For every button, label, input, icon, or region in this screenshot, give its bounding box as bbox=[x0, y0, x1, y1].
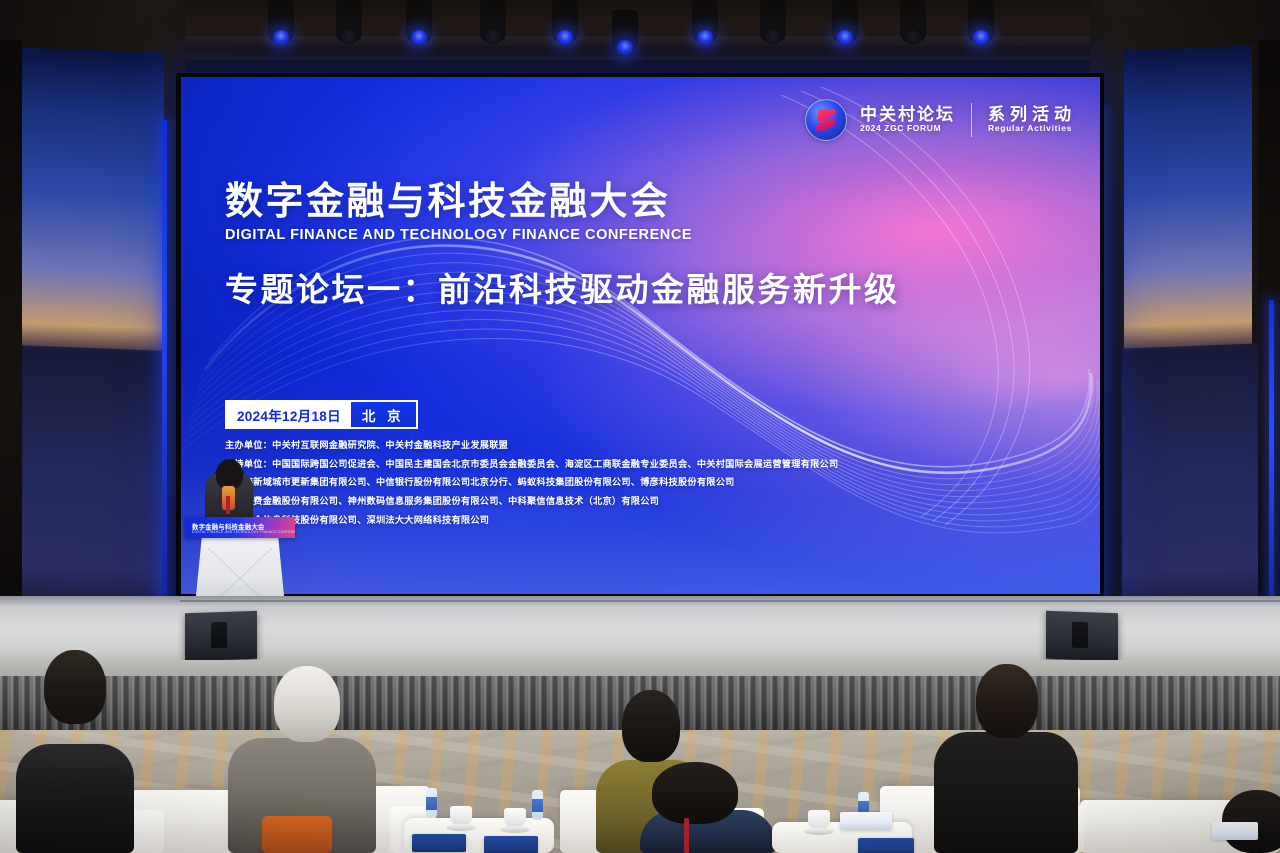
cup-saucer bbox=[804, 828, 834, 835]
brand-series-cn: 系列活动 bbox=[988, 106, 1076, 124]
place-name-card bbox=[412, 834, 466, 852]
stage-light-icon bbox=[336, 0, 362, 42]
place-name-card bbox=[858, 838, 914, 853]
wall-panel-dim bbox=[18, 345, 166, 626]
stage-light-icon bbox=[900, 0, 926, 42]
stage-light-icon bbox=[268, 0, 294, 42]
stage-light-icon bbox=[760, 0, 786, 42]
water-bottle bbox=[532, 790, 543, 820]
organizer-line: 上海合合信息科技股份有限公司、深圳法大大网络科技有限公司 bbox=[225, 516, 838, 525]
place-name-card bbox=[840, 812, 892, 830]
slide-headline-block: 数字金融与科技金融大会 DIGITAL FINANCE AND TECHNOLO… bbox=[225, 181, 900, 311]
stage-light-icon bbox=[968, 0, 994, 42]
brand-zgc-text: 中关村论坛 2024 ZGC FORUM bbox=[860, 106, 955, 135]
speaker-lanyard bbox=[226, 496, 230, 514]
stage-light-icon bbox=[406, 0, 432, 42]
podium-banner: 数字金融与科技金融大会 DIGITAL FINANCE AND TECHNOLO… bbox=[185, 517, 295, 538]
stage-light-icon bbox=[832, 0, 858, 42]
stage-light-icon bbox=[552, 0, 578, 42]
conference-title-cn: 数字金融与科技金融大会 bbox=[225, 181, 900, 224]
zgc-forum-logo: 中关村论坛 2024 ZGC FORUM 系列活动 Regular Activi… bbox=[805, 99, 1076, 141]
place-name-card bbox=[1212, 822, 1258, 840]
stage-monitor-speaker bbox=[1046, 611, 1118, 662]
organizer-line: 北京海新域城市更新集团有限公司、中信银行股份有限公司北京分行、蚂蚁科技集团股份有… bbox=[225, 478, 838, 487]
tea-cup bbox=[504, 808, 526, 828]
zgc-z-mark-icon bbox=[817, 109, 836, 131]
stage-light-icon bbox=[480, 0, 506, 42]
organizer-line: 支持单位：中国国际跨国公司促进会、中国民主建国会北京市委员会金融委员会、海淀区工… bbox=[225, 460, 838, 469]
stage-light-icon bbox=[692, 0, 718, 42]
organizer-line: 主办单位：中关村互联网金融研究院、中关村金融科技产业发展联盟 bbox=[225, 441, 838, 450]
brand-en-name: 2024 ZGC FORUM bbox=[860, 123, 955, 134]
podium-banner-en: DIGITAL FINANCE AND TECHNOLOGY FINANCE C… bbox=[192, 530, 295, 534]
date-location-badge: 2024年12月18日 北 京 bbox=[225, 400, 418, 429]
cup-saucer bbox=[446, 824, 476, 831]
brand-cn-name: 中关村论坛 bbox=[860, 106, 955, 124]
brand-divider bbox=[971, 103, 972, 137]
organizer-line: 马上消费金融股份有限公司、神州数码信息服务集团股份有限公司、中科聚信信息技术（北… bbox=[225, 497, 838, 506]
water-bottle bbox=[426, 788, 437, 818]
stage-monitor-speaker bbox=[185, 611, 257, 662]
conference-hall-photo: 中关村论坛 2024 ZGC FORUM 系列活动 Regular Activi… bbox=[0, 0, 1280, 853]
cup-saucer bbox=[500, 826, 530, 833]
brand-series-text: 系列活动 Regular Activities bbox=[988, 106, 1076, 135]
stage-light-icon bbox=[612, 10, 638, 52]
place-name-card bbox=[484, 836, 538, 853]
conference-title-en: DIGITAL FINANCE AND TECHNOLOGY FINANCE C… bbox=[225, 227, 900, 243]
wall-panel-lit bbox=[1124, 46, 1252, 351]
wall-panel-dim bbox=[1122, 343, 1258, 628]
organizer-fineprint: 主办单位：中关村互联网金融研究院、中关村金融科技产业发展联盟 支持单位：中国国际… bbox=[225, 441, 838, 535]
stage-back-seam bbox=[180, 600, 1280, 602]
wall-pillar bbox=[0, 40, 22, 640]
brand-series-en: Regular Activities bbox=[988, 123, 1076, 134]
zgc-emblem-icon bbox=[805, 99, 847, 141]
led-screen: 中关村论坛 2024 ZGC FORUM 系列活动 Regular Activi… bbox=[181, 77, 1100, 594]
event-city: 北 京 bbox=[351, 402, 416, 427]
wall-panel-lit bbox=[22, 47, 164, 352]
tea-cup bbox=[808, 810, 830, 830]
tea-cup bbox=[450, 806, 472, 826]
wall-glow-strip bbox=[1269, 300, 1274, 630]
wall-glow-strip bbox=[162, 120, 167, 620]
forum-subtitle-cn: 专题论坛一：前沿科技驱动金融服务新升级 bbox=[225, 263, 900, 311]
event-date: 2024年12月18日 bbox=[227, 402, 351, 427]
speaker-hair bbox=[216, 459, 243, 489]
lighting-truss-secondary bbox=[230, 46, 1090, 56]
